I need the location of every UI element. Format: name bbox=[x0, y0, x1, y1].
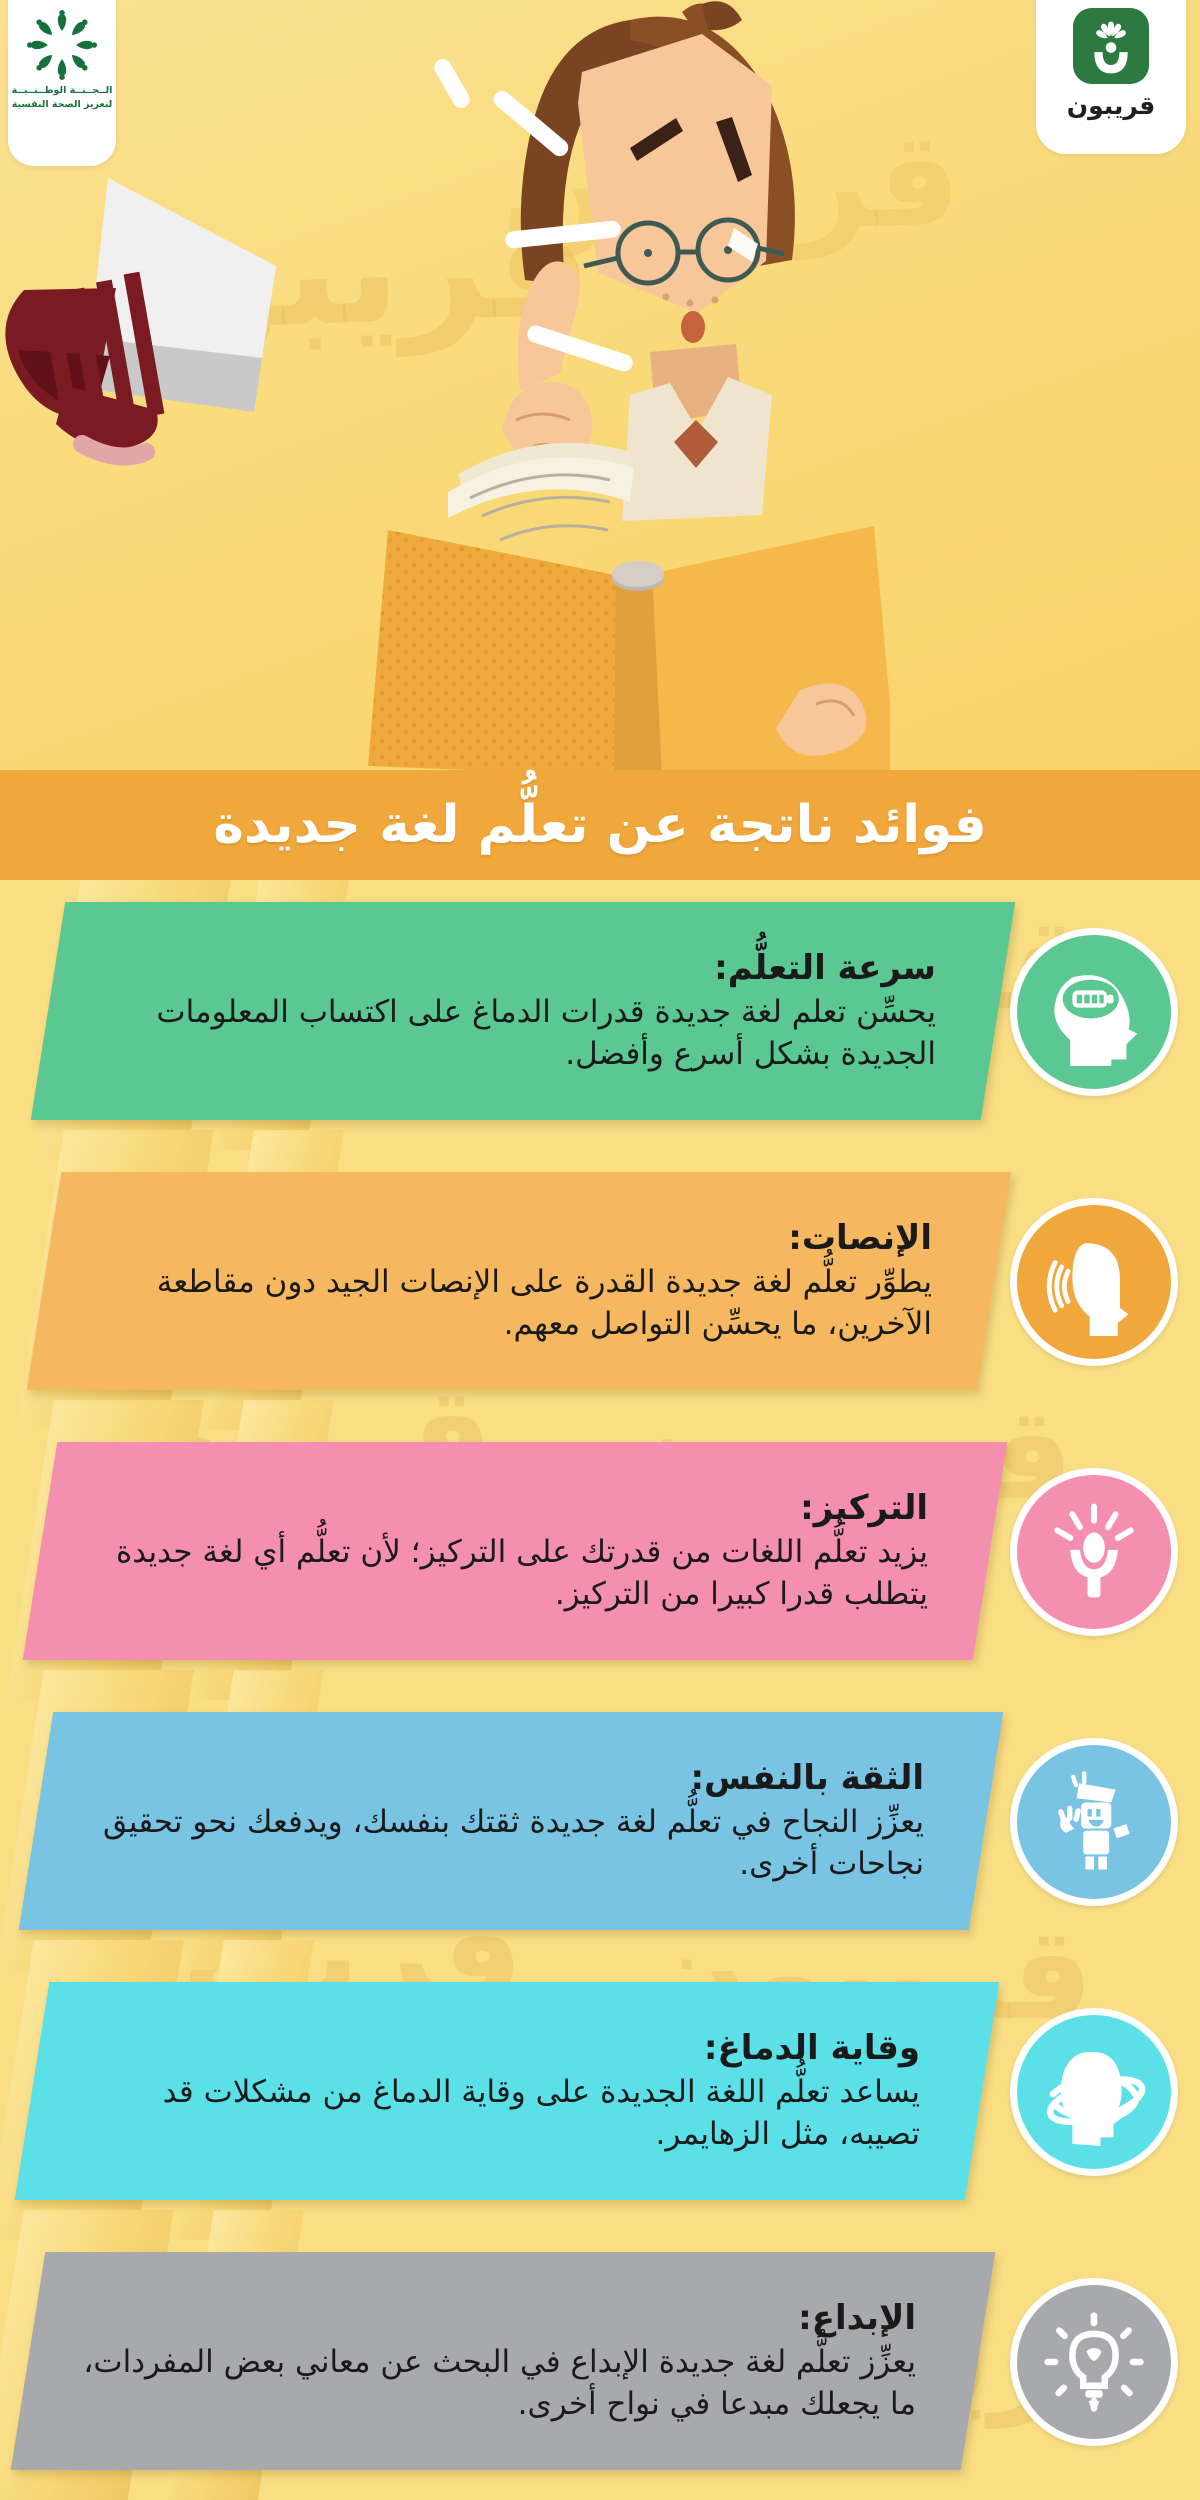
benefits-list: قريبون قريبون قريبون قريبون قريبون قريبو… bbox=[0, 880, 1200, 2500]
benefit-icon-badge bbox=[1010, 2278, 1178, 2446]
benefit-row-learning-speed: سرعة التعلُّم: يحسِّن تعلم لغة جديدة قدر… bbox=[0, 880, 1200, 1150]
benefit-title: سرعة التعلُّم: bbox=[88, 947, 936, 990]
benefit-icon-badge bbox=[1010, 1738, 1178, 1906]
benefit-description: يعزِّز النجاح في تعلُّم لغة جديدة ثقتك ب… bbox=[76, 1801, 924, 1885]
head-shield-icon bbox=[1040, 2038, 1148, 2146]
benefit-description: يساعد تعلُّم اللغة الجديدة على وقاية الد… bbox=[72, 2071, 920, 2155]
qareeboon-label: قريبون bbox=[1067, 91, 1156, 120]
benefit-row-focus: التركيز: يزيد تعلُّم اللغات من قدرتك على… bbox=[0, 1420, 1200, 1690]
benefit-title: الإبداع: bbox=[68, 2297, 916, 2340]
benefit-row-self-confidence: الثقة بالنفس: يعزِّز النجاح في تعلُّم لغ… bbox=[0, 1690, 1200, 1960]
head-listening-icon bbox=[1040, 1228, 1148, 1336]
committee-name-line2: لتعزيز الصحة النفسية bbox=[12, 98, 113, 112]
benefit-row-brain-protection: وقاية الدماغ: يساعد تعلُّم اللغة الجديدة… bbox=[0, 1960, 1200, 2230]
qareeboon-badge-icon bbox=[1073, 8, 1149, 84]
benefit-band: وقاية الدماغ: يساعد تعلُّم اللغة الجديدة… bbox=[15, 1982, 1000, 2200]
national-committee-logo-card: الــجــنــة الوطــنــيــة لتعزيز الصحة ا… bbox=[8, 0, 116, 166]
main-title-banner: فوائد ناتجة عن تعلُّم لغة جديدة bbox=[0, 770, 1200, 880]
benefit-icon-badge bbox=[1010, 2008, 1178, 2176]
benefit-row-listening: الإنصات: يطوِّر تعلُّم لغة جديدة القدرة … bbox=[0, 1150, 1200, 1420]
lightbulb-icon bbox=[1040, 2308, 1148, 2416]
benefit-icon-badge bbox=[1010, 1198, 1178, 1366]
benefit-row-creativity: الإبداع: يعزِّز تعلُّم لغة جديدة الإبداع… bbox=[0, 2230, 1200, 2500]
page-title: فوائد ناتجة عن تعلُّم لغة جديدة bbox=[213, 799, 987, 851]
benefit-icon-badge bbox=[1010, 928, 1178, 1096]
benefit-title: الإنصات: bbox=[84, 1217, 932, 1260]
benefit-description: يحسِّن تعلم لغة جديدة قدرات الدماغ على ا… bbox=[88, 991, 936, 1075]
benefit-band: الإبداع: يعزِّز تعلُّم لغة جديدة الإبداع… bbox=[11, 2252, 996, 2470]
benefit-band: التركيز: يزيد تعلُّم اللغات من قدرتك على… bbox=[23, 1442, 1008, 1660]
benefit-title: الثقة بالنفس: bbox=[76, 1757, 924, 1800]
benefit-icon-badge bbox=[1010, 1468, 1178, 1636]
committee-emblem-icon bbox=[27, 10, 97, 80]
benefit-description: يزيد تعلُّم اللغات من قدرتك على التركيز؛… bbox=[80, 1531, 928, 1615]
hero-illustration: قريبون قريبون bbox=[0, 0, 1200, 770]
megaphone-icon bbox=[0, 148, 290, 468]
committee-name-line1: الــجــنــة الوطــنــيــة bbox=[12, 84, 113, 98]
benefit-title: التركيز: bbox=[80, 1487, 928, 1530]
confident-person-icon bbox=[1040, 1768, 1148, 1876]
benefit-title: وقاية الدماغ: bbox=[72, 2027, 920, 2070]
benefit-band: الثقة بالنفس: يعزِّز النجاح في تعلُّم لغ… bbox=[19, 1712, 1004, 1930]
qareeboon-logo-card: قريبون bbox=[1036, 0, 1186, 154]
benefit-band: الإنصات: يطوِّر تعلُّم لغة جديدة القدرة … bbox=[27, 1172, 1012, 1390]
reading-person-illustration bbox=[330, 0, 890, 770]
person-focus-icon bbox=[1040, 1498, 1148, 1606]
head-battery-icon bbox=[1040, 958, 1148, 1066]
benefit-description: يعزِّز تعلُّم لغة جديدة الإبداع في البحث… bbox=[68, 2341, 916, 2425]
benefit-band: سرعة التعلُّم: يحسِّن تعلم لغة جديدة قدر… bbox=[31, 902, 1016, 1120]
benefit-description: يطوِّر تعلُّم لغة جديدة القدرة على الإنص… bbox=[84, 1261, 932, 1345]
